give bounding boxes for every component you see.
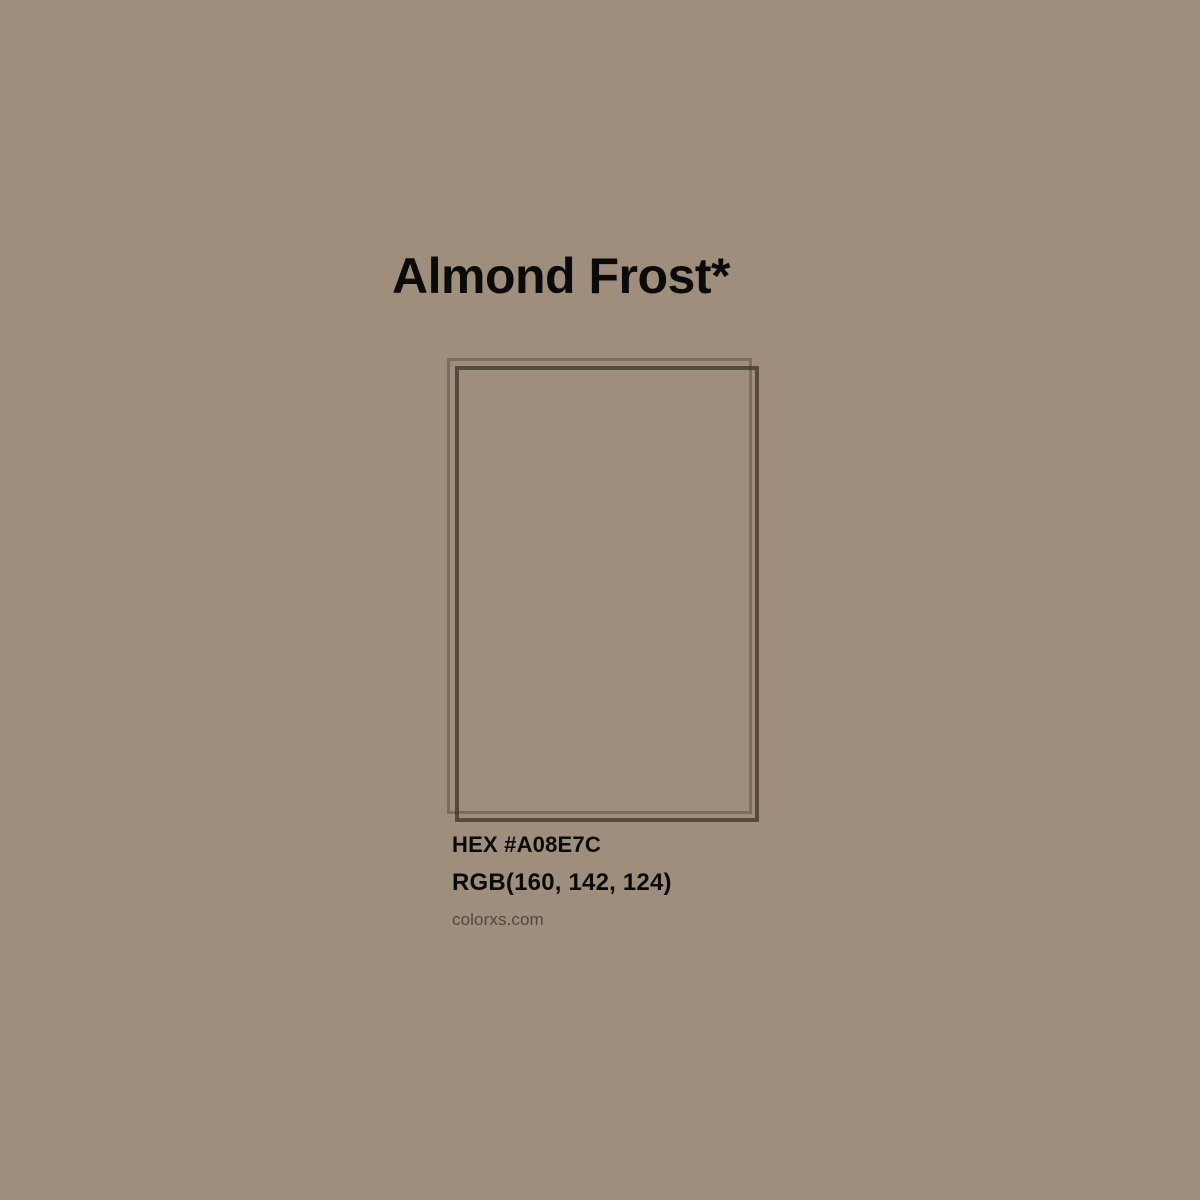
swatch-frame-outer [447, 358, 752, 814]
rgb-value-label: RGB(160, 142, 124) [452, 871, 672, 895]
color-info-block: HEX #A08E7C RGB(160, 142, 124) colorxs.c… [452, 834, 672, 928]
color-swatch-page: Almond Frost* HEX #A08E7C RGB(160, 142, … [0, 0, 1200, 1200]
hex-value-label: HEX #A08E7C [452, 834, 672, 856]
color-swatch [0, 0, 1200, 1200]
swatch-frame-inner [455, 366, 759, 822]
source-site-label: colorxs.com [452, 911, 672, 928]
page-title: Almond Frost* [392, 249, 730, 304]
